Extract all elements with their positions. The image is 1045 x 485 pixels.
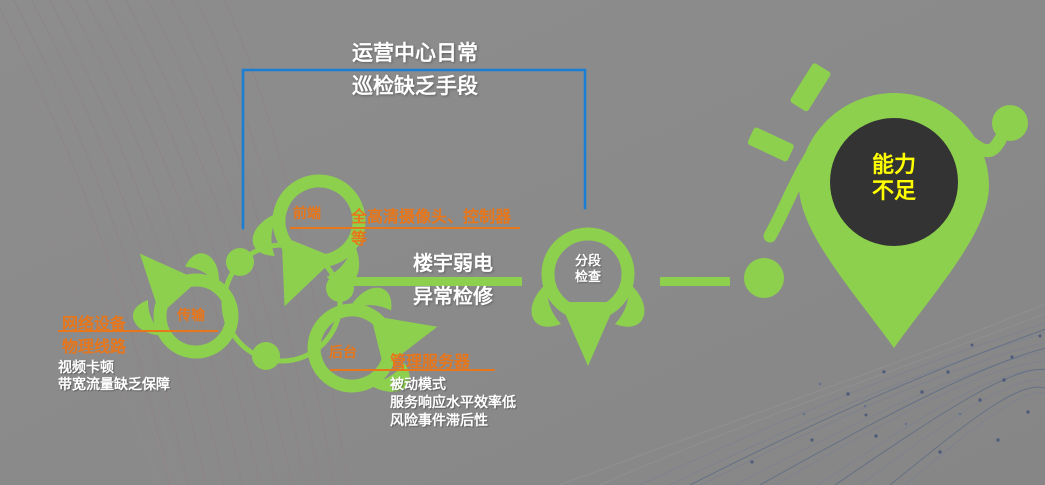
blue-bracket	[0, 0, 1045, 485]
pin-label-backend: 后台	[329, 342, 357, 362]
frontend-rule	[290, 227, 520, 229]
transmission-body-line2: 带宽流量缺乏保障	[58, 375, 170, 395]
transmission-headline-line1: 网络设备	[62, 310, 126, 334]
green-diagram	[0, 0, 1045, 485]
headline-line1: 运营中心日常	[245, 41, 585, 68]
center-label-line2: 异常检修	[358, 285, 548, 311]
frontend-headline-line2: 等	[351, 225, 367, 249]
headline-line2: 巡检缺乏手段	[245, 74, 585, 101]
backend-body-line2: 服务响应水平效率低	[390, 393, 516, 413]
backend-headline: 管理服务器	[390, 348, 470, 372]
background-decoration	[0, 0, 1045, 485]
backend-body-line1: 被动模式	[390, 375, 446, 395]
capability-badge-text: 能力 不足	[834, 152, 954, 205]
pin-label-transmission: 传输	[177, 305, 205, 325]
slide-canvas: 运营中心日常 巡检缺乏手段 楼宇弱电 异常检修 前端 传输 后台 分段 检查 全…	[0, 0, 1045, 485]
frontend-headline-line1: 全高清摄像头、控制器	[351, 203, 511, 227]
transmission-headline-line2: 物理线路	[62, 333, 126, 357]
pin-label-frontend: 前端	[293, 203, 321, 223]
pin-label-inspection: 分段 检查	[558, 253, 618, 286]
center-label-line1: 楼宇弱电	[358, 252, 548, 278]
backend-body-line3: 风险事件滞后性	[390, 411, 488, 431]
